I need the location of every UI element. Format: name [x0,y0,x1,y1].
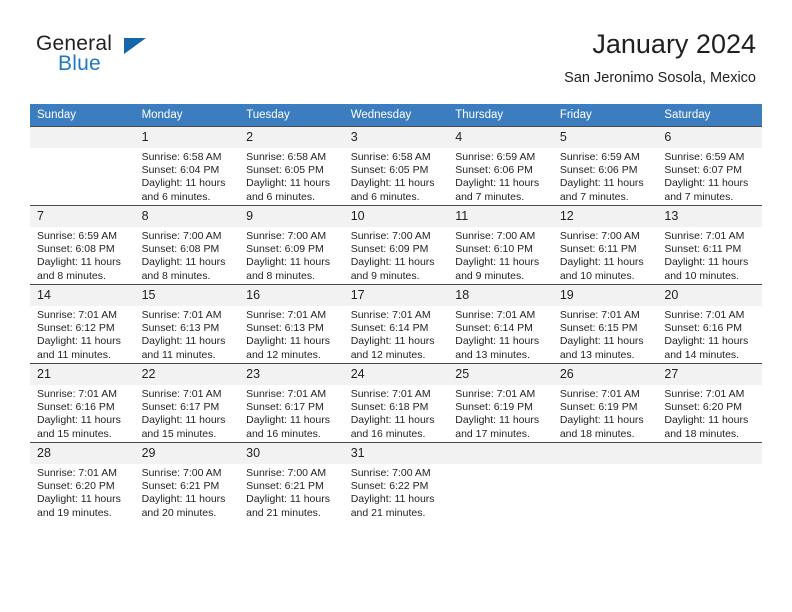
sunset-text: Sunset: 6:21 PM [142,480,234,493]
calendar-day-cell-empty [448,443,553,522]
day-details: Sunrise: 7:01 AMSunset: 6:20 PMDaylight:… [30,464,135,520]
logo-triangle-icon [124,38,146,54]
day-number: 6 [657,127,762,148]
day-details: Sunrise: 7:00 AMSunset: 6:08 PMDaylight:… [135,227,240,283]
calendar-day-cell[interactable]: 28Sunrise: 7:01 AMSunset: 6:20 PMDayligh… [30,443,135,522]
daylight-text: Daylight: 11 hours [37,335,129,348]
logo-text-blue: Blue [58,52,101,76]
calendar-day-cell[interactable]: 6Sunrise: 6:59 AMSunset: 6:07 PMDaylight… [657,127,762,206]
calendar-day-cell[interactable]: 5Sunrise: 6:59 AMSunset: 6:06 PMDaylight… [553,127,658,206]
day-details: Sunrise: 7:01 AMSunset: 6:12 PMDaylight:… [30,306,135,362]
daylight-text: Daylight: 11 hours [455,335,547,348]
sunset-text: Sunset: 6:13 PM [142,322,234,335]
title-block: January 2024 San Jeronimo Sosola, Mexico [564,28,756,88]
day-details: Sunrise: 7:00 AMSunset: 6:21 PMDaylight:… [135,464,240,520]
sunset-text: Sunset: 6:08 PM [37,243,129,256]
daylight-text: Daylight: 11 hours [560,256,652,269]
day-number: 7 [30,206,135,227]
sunrise-text: Sunrise: 7:01 AM [455,309,547,322]
daylight-text: and 8 minutes. [142,270,234,283]
calendar-week-row: 14Sunrise: 7:01 AMSunset: 6:12 PMDayligh… [30,285,762,364]
daylight-text: Daylight: 11 hours [37,256,129,269]
day-number: 27 [657,364,762,385]
day-details: Sunrise: 7:01 AMSunset: 6:18 PMDaylight:… [344,385,449,441]
sunrise-text: Sunrise: 7:01 AM [455,388,547,401]
calendar-day-cell[interactable]: 23Sunrise: 7:01 AMSunset: 6:17 PMDayligh… [239,364,344,443]
sunrise-text: Sunrise: 7:00 AM [142,467,234,480]
daylight-text: Daylight: 11 hours [351,177,443,190]
weekday-header: Sunday Monday Tuesday Wednesday Thursday… [30,104,762,127]
day-details: Sunrise: 7:00 AMSunset: 6:10 PMDaylight:… [448,227,553,283]
weekday-header-monday: Monday [135,104,240,127]
calendar-day-cell[interactable]: 1Sunrise: 6:58 AMSunset: 6:04 PMDaylight… [135,127,240,206]
calendar-day-cell[interactable]: 2Sunrise: 6:58 AMSunset: 6:05 PMDaylight… [239,127,344,206]
day-details: Sunrise: 7:00 AMSunset: 6:09 PMDaylight:… [239,227,344,283]
day-details: Sunrise: 6:59 AMSunset: 6:07 PMDaylight:… [657,148,762,204]
sunrise-text: Sunrise: 7:00 AM [351,467,443,480]
sunset-text: Sunset: 6:19 PM [455,401,547,414]
day-number: 16 [239,285,344,306]
weekday-header-wednesday: Wednesday [344,104,449,127]
day-number: 30 [239,443,344,464]
sunrise-text: Sunrise: 7:01 AM [246,388,338,401]
calendar-grid: Sunday Monday Tuesday Wednesday Thursday… [30,104,762,521]
sunset-text: Sunset: 6:10 PM [455,243,547,256]
sunrise-text: Sunrise: 7:01 AM [142,388,234,401]
day-number: 1 [135,127,240,148]
daylight-text: Daylight: 11 hours [351,414,443,427]
calendar-day-cell[interactable]: 25Sunrise: 7:01 AMSunset: 6:19 PMDayligh… [448,364,553,443]
daylight-text: and 20 minutes. [142,507,234,520]
daylight-text: and 16 minutes. [246,428,338,441]
sunset-text: Sunset: 6:17 PM [246,401,338,414]
day-number: 21 [30,364,135,385]
daylight-text: and 15 minutes. [142,428,234,441]
daylight-text: Daylight: 11 hours [142,256,234,269]
sunrise-text: Sunrise: 7:00 AM [560,230,652,243]
day-number [553,443,658,464]
weekday-header-thursday: Thursday [448,104,553,127]
daylight-text: and 21 minutes. [246,507,338,520]
daylight-text: Daylight: 11 hours [142,414,234,427]
daylight-text: and 11 minutes. [142,349,234,362]
sunrise-text: Sunrise: 6:59 AM [37,230,129,243]
daylight-text: Daylight: 11 hours [246,493,338,506]
calendar-day-cell[interactable]: 13Sunrise: 7:01 AMSunset: 6:11 PMDayligh… [657,206,762,285]
calendar-day-cell[interactable]: 21Sunrise: 7:01 AMSunset: 6:16 PMDayligh… [30,364,135,443]
daylight-text: Daylight: 11 hours [664,256,756,269]
sunrise-text: Sunrise: 7:01 AM [351,309,443,322]
daylight-text: and 7 minutes. [455,191,547,204]
daylight-text: and 21 minutes. [351,507,443,520]
sunset-text: Sunset: 6:09 PM [246,243,338,256]
daylight-text: Daylight: 11 hours [560,414,652,427]
daylight-text: and 12 minutes. [351,349,443,362]
calendar-day-cell[interactable]: 27Sunrise: 7:01 AMSunset: 6:20 PMDayligh… [657,364,762,443]
daylight-text: Daylight: 11 hours [455,256,547,269]
daylight-text: Daylight: 11 hours [455,414,547,427]
sunrise-text: Sunrise: 7:00 AM [246,230,338,243]
calendar-day-cell[interactable]: 3Sunrise: 6:58 AMSunset: 6:05 PMDaylight… [344,127,449,206]
daylight-text: and 12 minutes. [246,349,338,362]
day-number: 17 [344,285,449,306]
calendar-day-cell[interactable]: 30Sunrise: 7:00 AMSunset: 6:21 PMDayligh… [239,443,344,522]
day-number: 25 [448,364,553,385]
sunset-text: Sunset: 6:16 PM [37,401,129,414]
day-details: Sunrise: 7:00 AMSunset: 6:09 PMDaylight:… [344,227,449,283]
day-details: Sunrise: 7:01 AMSunset: 6:11 PMDaylight:… [657,227,762,283]
sunrise-text: Sunrise: 7:01 AM [664,230,756,243]
day-number [657,443,762,464]
page-header: General Blue January 2024 San Jeronimo S… [0,0,792,104]
day-details: Sunrise: 7:01 AMSunset: 6:19 PMDaylight:… [448,385,553,441]
day-number: 31 [344,443,449,464]
calendar-day-cell[interactable]: 22Sunrise: 7:01 AMSunset: 6:17 PMDayligh… [135,364,240,443]
day-details: Sunrise: 7:01 AMSunset: 6:17 PMDaylight:… [135,385,240,441]
daylight-text: Daylight: 11 hours [560,177,652,190]
calendar-day-cell[interactable]: 20Sunrise: 7:01 AMSunset: 6:16 PMDayligh… [657,285,762,364]
sunset-text: Sunset: 6:13 PM [246,322,338,335]
daylight-text: Daylight: 11 hours [351,493,443,506]
calendar-day-cell[interactable]: 18Sunrise: 7:01 AMSunset: 6:14 PMDayligh… [448,285,553,364]
calendar-day-cell[interactable]: 26Sunrise: 7:01 AMSunset: 6:19 PMDayligh… [553,364,658,443]
calendar-week-row: 7Sunrise: 6:59 AMSunset: 6:08 PMDaylight… [30,206,762,285]
calendar-day-cell[interactable]: 11Sunrise: 7:00 AMSunset: 6:10 PMDayligh… [448,206,553,285]
sunrise-text: Sunrise: 7:00 AM [142,230,234,243]
day-number: 8 [135,206,240,227]
sunset-text: Sunset: 6:05 PM [351,164,443,177]
calendar-day-cell[interactable]: 8Sunrise: 7:00 AMSunset: 6:08 PMDaylight… [135,206,240,285]
daylight-text: and 17 minutes. [455,428,547,441]
sunrise-text: Sunrise: 7:01 AM [664,388,756,401]
calendar-body: 1Sunrise: 6:58 AMSunset: 6:04 PMDaylight… [30,127,762,522]
daylight-text: Daylight: 11 hours [560,335,652,348]
calendar-week-row: 28Sunrise: 7:01 AMSunset: 6:20 PMDayligh… [30,443,762,522]
day-details: Sunrise: 7:01 AMSunset: 6:16 PMDaylight:… [30,385,135,441]
daylight-text: and 15 minutes. [37,428,129,441]
daylight-text: and 6 minutes. [142,191,234,204]
daylight-text: and 16 minutes. [351,428,443,441]
day-details: Sunrise: 7:00 AMSunset: 6:22 PMDaylight:… [344,464,449,520]
day-details: Sunrise: 6:58 AMSunset: 6:04 PMDaylight:… [135,148,240,204]
daylight-text: and 10 minutes. [560,270,652,283]
weekday-header-sunday: Sunday [30,104,135,127]
sunrise-text: Sunrise: 7:01 AM [351,388,443,401]
weekday-header-tuesday: Tuesday [239,104,344,127]
daylight-text: Daylight: 11 hours [37,414,129,427]
sunrise-text: Sunrise: 6:59 AM [455,151,547,164]
day-number: 10 [344,206,449,227]
day-number: 11 [448,206,553,227]
day-details: Sunrise: 6:59 AMSunset: 6:06 PMDaylight:… [553,148,658,204]
daylight-text: Daylight: 11 hours [351,335,443,348]
day-number: 9 [239,206,344,227]
daylight-text: and 11 minutes. [37,349,129,362]
calendar-day-cell[interactable]: 19Sunrise: 7:01 AMSunset: 6:15 PMDayligh… [553,285,658,364]
page-subtitle: San Jeronimo Sosola, Mexico [564,68,756,88]
calendar-page: General Blue January 2024 San Jeronimo S… [0,0,792,612]
sunrise-text: Sunrise: 6:59 AM [664,151,756,164]
sunrise-text: Sunrise: 7:01 AM [142,309,234,322]
day-number: 19 [553,285,658,306]
daylight-text: and 8 minutes. [246,270,338,283]
calendar-day-cell-empty [30,127,135,206]
daylight-text: Daylight: 11 hours [246,256,338,269]
calendar-day-cell[interactable]: 12Sunrise: 7:00 AMSunset: 6:11 PMDayligh… [553,206,658,285]
sunset-text: Sunset: 6:08 PM [142,243,234,256]
daylight-text: and 19 minutes. [37,507,129,520]
daylight-text: and 7 minutes. [560,191,652,204]
sunset-text: Sunset: 6:21 PM [246,480,338,493]
daylight-text: Daylight: 11 hours [664,414,756,427]
calendar-day-cell-empty [657,443,762,522]
sunset-text: Sunset: 6:14 PM [351,322,443,335]
day-number [30,127,135,148]
day-details: Sunrise: 7:01 AMSunset: 6:17 PMDaylight:… [239,385,344,441]
calendar-day-cell[interactable]: 14Sunrise: 7:01 AMSunset: 6:12 PMDayligh… [30,285,135,364]
sunset-text: Sunset: 6:11 PM [664,243,756,256]
day-number [448,443,553,464]
sunrise-text: Sunrise: 7:01 AM [37,309,129,322]
sunrise-text: Sunrise: 7:01 AM [246,309,338,322]
calendar-header-row: Sunday Monday Tuesday Wednesday Thursday… [30,104,762,127]
sunrise-text: Sunrise: 6:58 AM [351,151,443,164]
day-details: Sunrise: 6:58 AMSunset: 6:05 PMDaylight:… [239,148,344,204]
day-number: 24 [344,364,449,385]
calendar-day-cell[interactable]: 31Sunrise: 7:00 AMSunset: 6:22 PMDayligh… [344,443,449,522]
day-details: Sunrise: 7:01 AMSunset: 6:15 PMDaylight:… [553,306,658,362]
daylight-text: Daylight: 11 hours [142,177,234,190]
day-number: 4 [448,127,553,148]
sunset-text: Sunset: 6:20 PM [664,401,756,414]
sunset-text: Sunset: 6:06 PM [455,164,547,177]
daylight-text: and 13 minutes. [560,349,652,362]
day-number: 2 [239,127,344,148]
calendar-day-cell[interactable]: 16Sunrise: 7:01 AMSunset: 6:13 PMDayligh… [239,285,344,364]
day-number: 22 [135,364,240,385]
sunset-text: Sunset: 6:11 PM [560,243,652,256]
sunrise-text: Sunrise: 7:01 AM [560,309,652,322]
day-details: Sunrise: 6:59 AMSunset: 6:06 PMDaylight:… [448,148,553,204]
sunset-text: Sunset: 6:16 PM [664,322,756,335]
day-details: Sunrise: 6:59 AMSunset: 6:08 PMDaylight:… [30,227,135,283]
calendar-week-row: 21Sunrise: 7:01 AMSunset: 6:16 PMDayligh… [30,364,762,443]
calendar-week-row: 1Sunrise: 6:58 AMSunset: 6:04 PMDaylight… [30,127,762,206]
sunrise-text: Sunrise: 7:00 AM [246,467,338,480]
day-details: Sunrise: 7:01 AMSunset: 6:13 PMDaylight:… [135,306,240,362]
general-blue-logo[interactable]: General Blue [36,32,166,82]
day-number: 20 [657,285,762,306]
day-number: 12 [553,206,658,227]
calendar-day-cell[interactable]: 4Sunrise: 6:59 AMSunset: 6:06 PMDaylight… [448,127,553,206]
sunset-text: Sunset: 6:14 PM [455,322,547,335]
daylight-text: Daylight: 11 hours [246,414,338,427]
daylight-text: Daylight: 11 hours [351,256,443,269]
calendar-day-cell[interactable]: 10Sunrise: 7:00 AMSunset: 6:09 PMDayligh… [344,206,449,285]
calendar-day-cell[interactable]: 29Sunrise: 7:00 AMSunset: 6:21 PMDayligh… [135,443,240,522]
daylight-text: Daylight: 11 hours [142,493,234,506]
sunset-text: Sunset: 6:06 PM [560,164,652,177]
day-details: Sunrise: 6:58 AMSunset: 6:05 PMDaylight:… [344,148,449,204]
calendar-day-cell[interactable]: 17Sunrise: 7:01 AMSunset: 6:14 PMDayligh… [344,285,449,364]
day-number: 28 [30,443,135,464]
day-number: 13 [657,206,762,227]
daylight-text: and 6 minutes. [246,191,338,204]
weekday-header-friday: Friday [553,104,658,127]
daylight-text: and 9 minutes. [455,270,547,283]
daylight-text: and 14 minutes. [664,349,756,362]
calendar-day-cell[interactable]: 9Sunrise: 7:00 AMSunset: 6:09 PMDaylight… [239,206,344,285]
calendar-day-cell[interactable]: 7Sunrise: 6:59 AMSunset: 6:08 PMDaylight… [30,206,135,285]
daylight-text: and 8 minutes. [37,270,129,283]
day-details: Sunrise: 7:01 AMSunset: 6:13 PMDaylight:… [239,306,344,362]
day-number: 15 [135,285,240,306]
day-details: Sunrise: 7:01 AMSunset: 6:20 PMDaylight:… [657,385,762,441]
daylight-text: Daylight: 11 hours [142,335,234,348]
sunrise-text: Sunrise: 6:58 AM [246,151,338,164]
sunrise-text: Sunrise: 7:00 AM [351,230,443,243]
daylight-text: Daylight: 11 hours [37,493,129,506]
sunrise-text: Sunrise: 6:58 AM [142,151,234,164]
daylight-text: and 13 minutes. [455,349,547,362]
sunrise-text: Sunrise: 7:01 AM [37,388,129,401]
weekday-header-saturday: Saturday [657,104,762,127]
sunset-text: Sunset: 6:17 PM [142,401,234,414]
day-number: 5 [553,127,658,148]
sunrise-text: Sunrise: 7:01 AM [560,388,652,401]
sunset-text: Sunset: 6:22 PM [351,480,443,493]
day-details: Sunrise: 7:01 AMSunset: 6:16 PMDaylight:… [657,306,762,362]
daylight-text: Daylight: 11 hours [664,177,756,190]
sunrise-text: Sunrise: 7:01 AM [37,467,129,480]
day-details: Sunrise: 7:01 AMSunset: 6:14 PMDaylight:… [448,306,553,362]
daylight-text: and 10 minutes. [664,270,756,283]
daylight-text: and 9 minutes. [351,270,443,283]
sunset-text: Sunset: 6:19 PM [560,401,652,414]
sunset-text: Sunset: 6:15 PM [560,322,652,335]
page-title: January 2024 [564,28,756,60]
daylight-text: and 18 minutes. [560,428,652,441]
daylight-text: Daylight: 11 hours [455,177,547,190]
daylight-text: Daylight: 11 hours [246,335,338,348]
day-number: 3 [344,127,449,148]
daylight-text: and 18 minutes. [664,428,756,441]
day-details: Sunrise: 7:00 AMSunset: 6:21 PMDaylight:… [239,464,344,520]
day-number: 23 [239,364,344,385]
day-number: 29 [135,443,240,464]
calendar-day-cell[interactable]: 24Sunrise: 7:01 AMSunset: 6:18 PMDayligh… [344,364,449,443]
daylight-text: Daylight: 11 hours [664,335,756,348]
daylight-text: Daylight: 11 hours [246,177,338,190]
day-number: 18 [448,285,553,306]
sunrise-text: Sunrise: 7:00 AM [455,230,547,243]
sunset-text: Sunset: 6:07 PM [664,164,756,177]
sunset-text: Sunset: 6:20 PM [37,480,129,493]
day-details: Sunrise: 7:00 AMSunset: 6:11 PMDaylight:… [553,227,658,283]
sunset-text: Sunset: 6:05 PM [246,164,338,177]
day-number: 26 [553,364,658,385]
calendar-day-cell[interactable]: 15Sunrise: 7:01 AMSunset: 6:13 PMDayligh… [135,285,240,364]
day-details: Sunrise: 7:01 AMSunset: 6:19 PMDaylight:… [553,385,658,441]
sunset-text: Sunset: 6:12 PM [37,322,129,335]
sunset-text: Sunset: 6:04 PM [142,164,234,177]
daylight-text: and 6 minutes. [351,191,443,204]
day-details: Sunrise: 7:01 AMSunset: 6:14 PMDaylight:… [344,306,449,362]
calendar-day-cell-empty [553,443,658,522]
sunset-text: Sunset: 6:09 PM [351,243,443,256]
daylight-text: and 7 minutes. [664,191,756,204]
sunrise-text: Sunrise: 6:59 AM [560,151,652,164]
sunrise-text: Sunrise: 7:01 AM [664,309,756,322]
sunset-text: Sunset: 6:18 PM [351,401,443,414]
day-number: 14 [30,285,135,306]
